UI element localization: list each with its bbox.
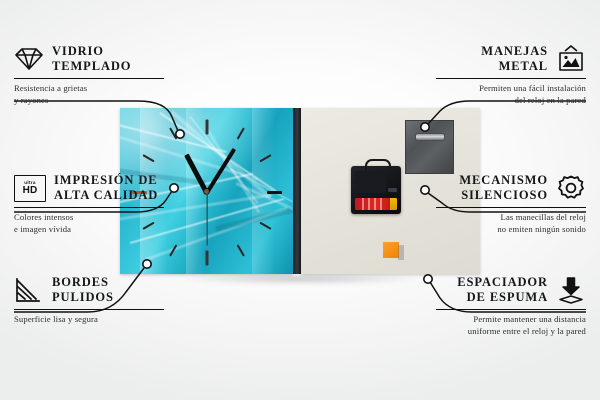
feature-rule xyxy=(14,207,164,209)
feature-desc-line2: no emiten ningún sonido xyxy=(436,223,586,235)
feature-title-line2: SILENCIOSO xyxy=(459,188,548,203)
ultra-hd-icon: ultra HD xyxy=(14,175,46,202)
feature-title-line2: PULIDOS xyxy=(52,290,114,305)
wall-frame-icon xyxy=(556,45,586,73)
feature-title-line2: ALTA CALIDAD xyxy=(54,188,158,203)
feature-title-line1: VIDRIO xyxy=(52,44,131,59)
clock-glass-edge xyxy=(293,108,301,274)
feature-title-line2: TEMPLADO xyxy=(52,59,131,74)
feature-rule xyxy=(436,207,586,209)
gear-icon xyxy=(556,174,586,202)
polished-edges-icon xyxy=(14,277,44,303)
feature-title-line1: BORDES xyxy=(52,275,114,290)
product-shadow xyxy=(126,274,476,290)
foam-spacer-icon xyxy=(556,276,586,304)
feature-foam-spacer: ESPACIADOR DE ESPUMA Permite mantener un… xyxy=(436,275,586,338)
feature-title-line1: MANEJAS xyxy=(481,44,548,59)
feature-desc-line1: Resistencia a grietas xyxy=(14,82,164,94)
feature-title-line1: IMPRESIÓN DE xyxy=(54,173,158,188)
feature-silent-mechanism: MECANISMO SILENCIOSO Las manecillas del … xyxy=(436,173,586,236)
feature-desc-line1: Colores intensos xyxy=(14,211,164,223)
feature-title-line2: DE ESPUMA xyxy=(457,290,548,305)
feature-desc-line2: del reloj en la pared xyxy=(436,94,586,106)
clock-second-hand xyxy=(206,192,207,246)
feature-title-line2: METAL xyxy=(481,59,548,74)
diamond-icon xyxy=(14,46,44,72)
ultra-hd-large-label: HD xyxy=(23,186,38,196)
infographic-canvas: VIDRIO TEMPLADO Resistencia a grietas y … xyxy=(0,0,600,400)
clock-minute-hand xyxy=(205,148,236,194)
feature-title-line1: MECANISMO xyxy=(459,173,548,188)
feature-rule xyxy=(436,309,586,311)
feature-desc-line1: Permiten una fácil instalación xyxy=(436,82,586,94)
feature-title-line1: ESPACIADOR xyxy=(457,275,548,290)
feature-polished-edges: BORDES PULIDOS Superficie lisa y segura xyxy=(14,275,164,325)
feature-desc-line2: y rayones xyxy=(14,94,164,106)
feature-rule xyxy=(436,78,586,80)
clock-center-cap xyxy=(204,189,209,194)
feature-desc-line2: uniforme entre el reloj y la pared xyxy=(436,325,586,337)
feature-hd-print: ultra HD IMPRESIÓN DE ALTA CALIDAD Color… xyxy=(14,173,164,236)
feature-desc-line1: Las manecillas del reloj xyxy=(436,211,586,223)
feature-desc-line1: Permite mantener una distancia xyxy=(436,313,586,325)
feature-rule xyxy=(14,309,164,311)
feature-desc-line1: Superficie lisa y segura xyxy=(14,313,164,325)
feature-rule xyxy=(14,78,164,80)
feature-metal-handles: MANEJAS METAL Permiten una fácil instala… xyxy=(436,44,586,107)
feature-tempered-glass: VIDRIO TEMPLADO Resistencia a grietas y … xyxy=(14,44,164,107)
feature-desc-line2: e imagen vívida xyxy=(14,223,164,235)
metal-hanger-plate xyxy=(405,120,454,174)
foam-spacer xyxy=(383,242,399,258)
product-image xyxy=(120,108,480,280)
clock-mechanism xyxy=(351,166,401,214)
battery xyxy=(355,198,397,210)
